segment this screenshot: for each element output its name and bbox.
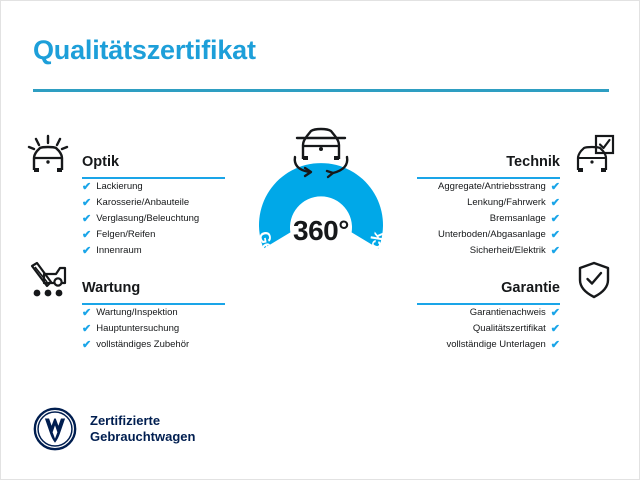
section-underline-wartung bbox=[82, 303, 225, 305]
check-icon: ✔ bbox=[551, 340, 560, 351]
list-item-label: Bremsanlage bbox=[490, 211, 546, 227]
car-rotate-icon bbox=[281, 123, 361, 179]
check-icon: ✔ bbox=[551, 324, 560, 335]
badge-center-label: 360° bbox=[233, 215, 409, 247]
list-item: ✔Verglasung/Beleuchtung bbox=[82, 211, 225, 227]
list-item: Aggregate/Antriebsstrang✔ bbox=[417, 179, 560, 195]
check-icon: ✔ bbox=[551, 308, 560, 319]
list-item: ✔Innenraum bbox=[82, 243, 225, 259]
footer-line-2: Gebrauchtwagen bbox=[90, 429, 195, 445]
section-optik: Optik ✔Lackierung ✔Karosserie/Anbauteile… bbox=[25, 133, 225, 259]
section-header-wartung: Wartung bbox=[25, 259, 225, 305]
footer-line-1: Zertifizierte bbox=[90, 413, 195, 429]
list-item-label: Lenkung/Fahrwerk bbox=[467, 195, 546, 211]
section-underline-optik bbox=[82, 177, 225, 179]
check-icon: ✔ bbox=[551, 246, 560, 257]
section-technik: Technik Aggregate/Antriebsstrang✔ Lenkun… bbox=[417, 133, 617, 259]
check-icon: ✔ bbox=[82, 340, 91, 351]
check-icon: ✔ bbox=[551, 198, 560, 209]
list-item-label: Felgen/Reifen bbox=[96, 227, 155, 243]
section-list-technik: Aggregate/Antriebsstrang✔ Lenkung/Fahrwe… bbox=[417, 179, 617, 259]
vw-logo-icon bbox=[33, 407, 77, 451]
list-item: ✔Hauptuntersuchung bbox=[82, 321, 225, 337]
section-header-optik: Optik bbox=[25, 133, 225, 179]
section-garantie: Garantie Garantienachweis✔ Qualitätszert… bbox=[417, 259, 617, 353]
page-title: Qualitätszertifikat bbox=[33, 35, 256, 66]
section-list-optik: ✔Lackierung ✔Karosserie/Anbauteile ✔Verg… bbox=[25, 179, 225, 259]
list-item: ✔Lackierung bbox=[82, 179, 225, 195]
section-title-wartung: Wartung bbox=[82, 280, 140, 296]
check-icon: ✔ bbox=[551, 214, 560, 225]
list-item-label: Hauptuntersuchung bbox=[96, 321, 179, 337]
list-item: Garantienachweis✔ bbox=[417, 305, 560, 321]
header-divider bbox=[33, 89, 609, 92]
list-item-label: Garantienachweis bbox=[470, 305, 546, 321]
list-item-label: vollständige Unterlagen bbox=[446, 337, 545, 353]
footer-brand-text: Zertifizierte Gebrauchtwagen bbox=[90, 413, 195, 445]
list-item: ✔Felgen/Reifen bbox=[82, 227, 225, 243]
section-title-garantie: Garantie bbox=[501, 280, 560, 296]
section-header-technik: Technik bbox=[417, 133, 617, 179]
list-item: ✔Wartung/Inspektion bbox=[82, 305, 225, 321]
car-polish-icon bbox=[25, 133, 71, 175]
shield-check-icon bbox=[571, 259, 617, 301]
section-title-optik: Optik bbox=[82, 154, 119, 170]
section-list-garantie: Garantienachweis✔ Qualitätszertifikat✔ v… bbox=[417, 305, 617, 353]
list-item-label: Lackierung bbox=[96, 179, 142, 195]
check-icon: ✔ bbox=[82, 214, 91, 225]
list-item-label: Wartung/Inspektion bbox=[96, 305, 178, 321]
check-icon: ✔ bbox=[551, 230, 560, 241]
list-item: Lenkung/Fahrwerk✔ bbox=[417, 195, 560, 211]
check-icon: ✔ bbox=[82, 308, 91, 319]
list-item-label: Sicherheit/Elektrik bbox=[470, 243, 546, 259]
badge-360-gebrauchtwagen-check: Gebrauchtwagen-Check 360° bbox=[233, 119, 409, 295]
section-underline-technik bbox=[417, 177, 560, 179]
check-icon: ✔ bbox=[82, 182, 91, 193]
list-item-label: Verglasung/Beleuchtung bbox=[96, 211, 199, 227]
check-icon: ✔ bbox=[82, 324, 91, 335]
section-wartung: Wartung ✔Wartung/Inspektion ✔Hauptunters… bbox=[25, 259, 225, 353]
car-checkbox-icon bbox=[571, 133, 617, 175]
list-item-label: Qualitätszertifikat bbox=[473, 321, 546, 337]
certificate-page: Qualitätszertifikat bbox=[0, 0, 640, 480]
section-list-wartung: ✔Wartung/Inspektion ✔Hauptuntersuchung ✔… bbox=[25, 305, 225, 353]
list-item: ✔vollständiges Zubehör bbox=[82, 337, 225, 353]
section-title-technik: Technik bbox=[506, 154, 560, 170]
list-item-label: Aggregate/Antriebsstrang bbox=[438, 179, 546, 195]
list-item: Unterboden/Abgasanlage✔ bbox=[417, 227, 560, 243]
list-item-label: vollständiges Zubehör bbox=[96, 337, 189, 353]
list-item: ✔Karosserie/Anbauteile bbox=[82, 195, 225, 211]
check-icon: ✔ bbox=[82, 230, 91, 241]
section-header-garantie: Garantie bbox=[417, 259, 617, 305]
check-icon: ✔ bbox=[82, 246, 91, 257]
list-item-label: Unterboden/Abgasanlage bbox=[438, 227, 546, 243]
list-item: vollständige Unterlagen✔ bbox=[417, 337, 560, 353]
list-item: Sicherheit/Elektrik✔ bbox=[417, 243, 560, 259]
wrench-car-icon bbox=[25, 259, 71, 301]
check-icon: ✔ bbox=[551, 182, 560, 193]
check-icon: ✔ bbox=[82, 198, 91, 209]
list-item-label: Innenraum bbox=[96, 243, 141, 259]
footer-brand: Zertifizierte Gebrauchtwagen bbox=[33, 407, 195, 451]
section-underline-garantie bbox=[417, 303, 560, 305]
list-item: Bremsanlage✔ bbox=[417, 211, 560, 227]
list-item-label: Karosserie/Anbauteile bbox=[96, 195, 189, 211]
list-item: Qualitätszertifikat✔ bbox=[417, 321, 560, 337]
